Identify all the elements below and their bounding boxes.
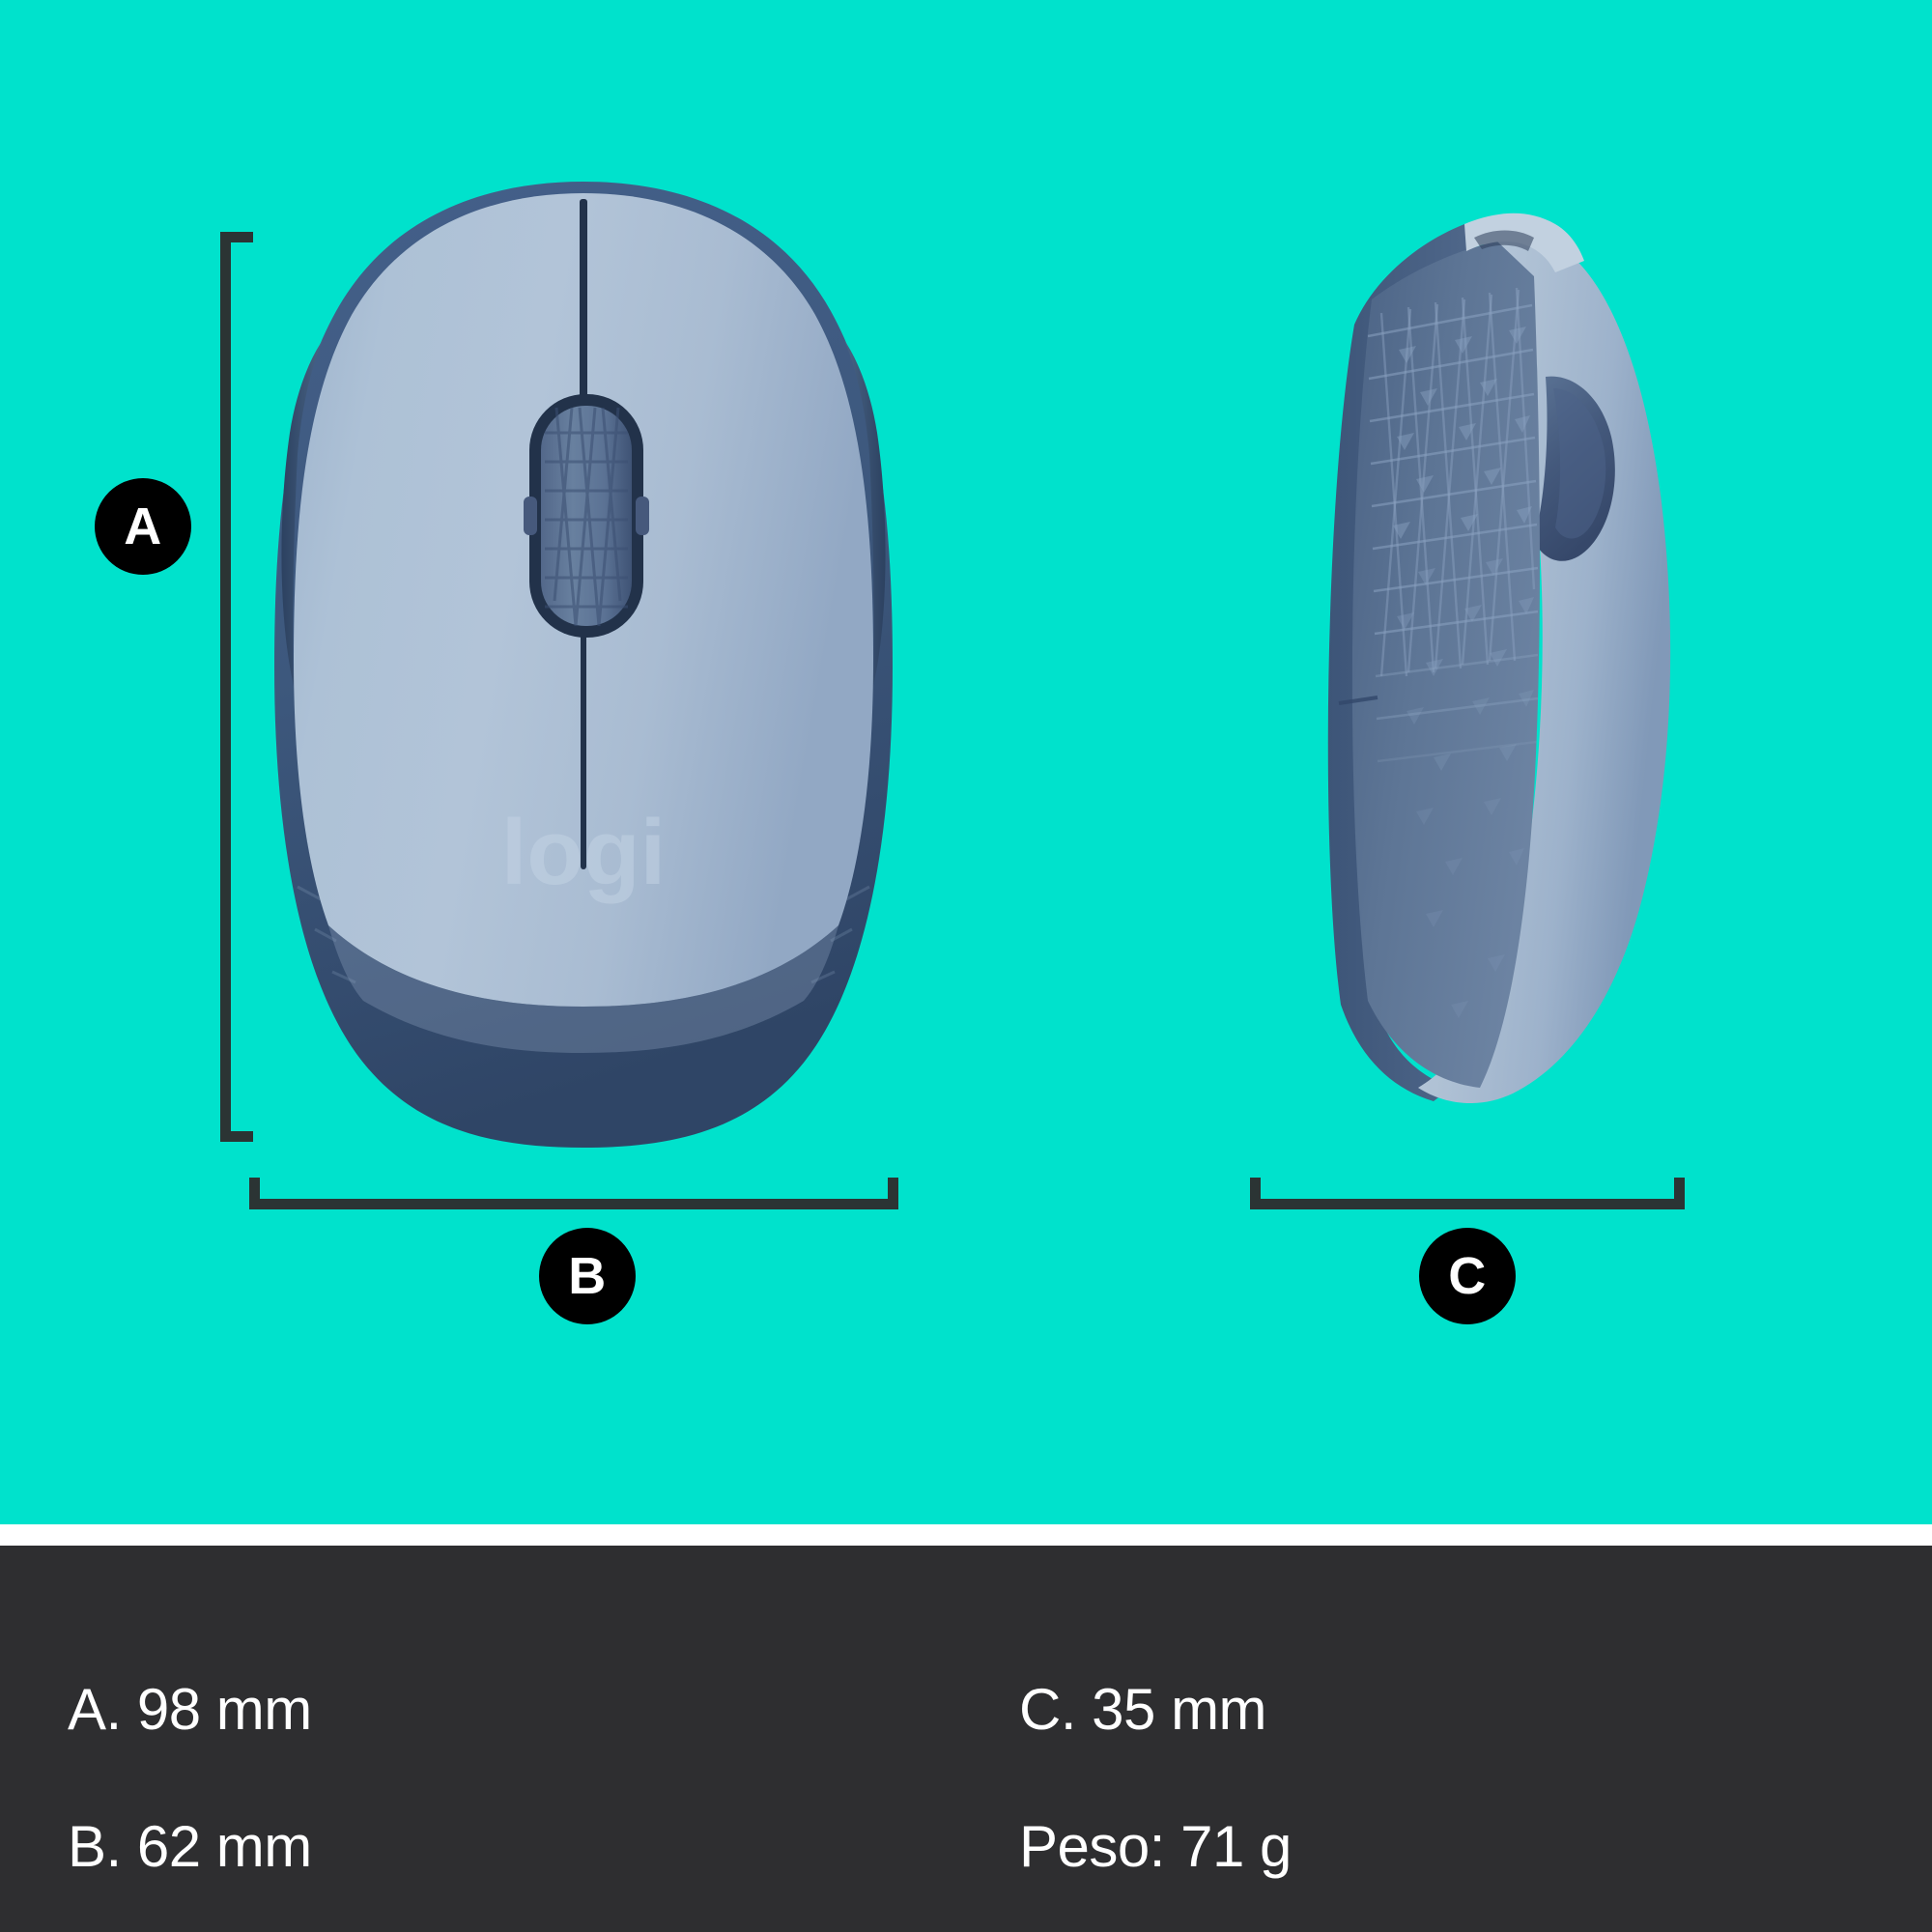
dimension-c-base: [1250, 1199, 1685, 1209]
dimension-a-top-tick: [220, 232, 253, 242]
dimension-b-right-tick: [888, 1178, 898, 1209]
callout-badge-b: B: [539, 1228, 636, 1324]
spec-column-left: A. 98 mm B. 62 mm: [68, 1681, 312, 1876]
dimension-a-stem: [220, 232, 231, 1142]
spec-item-b: B. 62 mm: [68, 1818, 312, 1876]
specifications-footer: A. 98 mm B. 62 mm C. 35 mm Peso: 71 g: [0, 1546, 1932, 1932]
hero-panel: logi: [0, 0, 1932, 1524]
mouse-top-view: logi: [240, 164, 927, 1161]
section-divider: [0, 1524, 1932, 1546]
callout-badge-c-label: C: [1448, 1246, 1487, 1306]
dimension-b-left-tick: [249, 1178, 260, 1209]
dimension-a-bottom-tick: [220, 1131, 253, 1142]
spec-column-right: C. 35 mm Peso: 71 g: [1019, 1681, 1292, 1876]
product-dimensions-infographic: logi: [0, 0, 1932, 1932]
spec-item-weight: Peso: 71 g: [1019, 1818, 1292, 1876]
logi-logo-text: logi: [501, 801, 667, 904]
scroll-wheel[interactable]: [524, 394, 649, 638]
dimension-c-right-tick: [1674, 1178, 1685, 1209]
callout-badge-a: A: [95, 478, 191, 575]
spec-item-c: C. 35 mm: [1019, 1681, 1292, 1739]
dimension-c-left-tick: [1250, 1178, 1261, 1209]
callout-badge-b-label: B: [568, 1246, 607, 1306]
mouse-side-view: [1227, 135, 1739, 1169]
spec-item-a: A. 98 mm: [68, 1681, 312, 1739]
logi-logo: logi: [501, 801, 667, 904]
dimension-b-base: [249, 1199, 898, 1209]
callout-badge-c: C: [1419, 1228, 1516, 1324]
side-grip-panel: [1352, 241, 1540, 1088]
callout-badge-a-label: A: [124, 497, 162, 556]
